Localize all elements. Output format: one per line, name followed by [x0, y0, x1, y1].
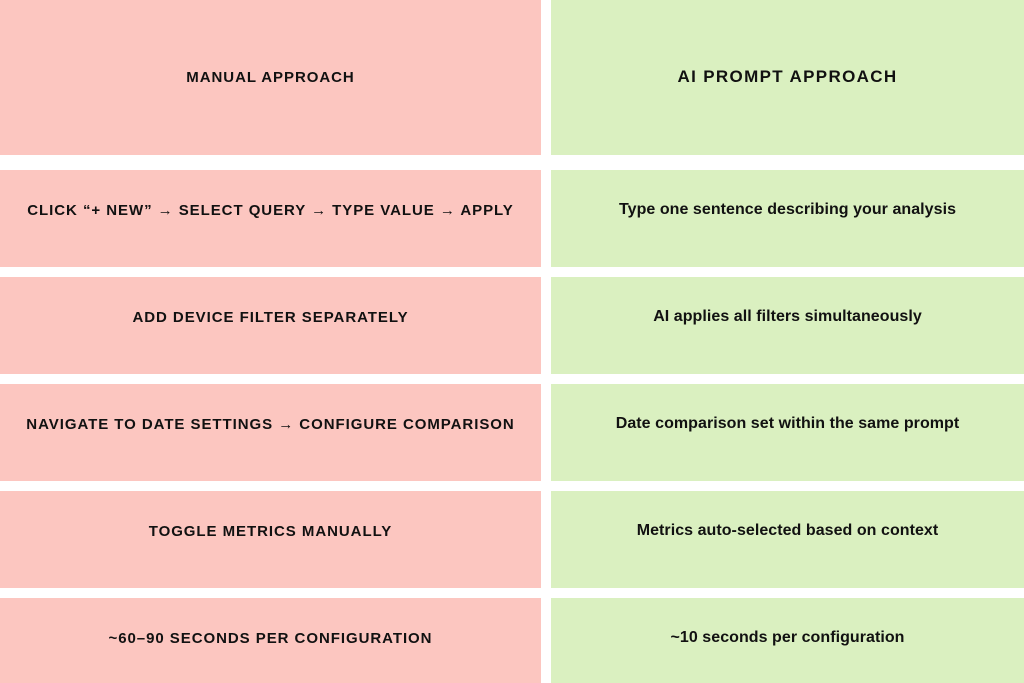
- table-row: TOGGLE METRICS MANUALLY Metrics auto-sel…: [0, 491, 1024, 588]
- cell-manual-step: ADD DEVICE FILTER SEPARATELY: [0, 277, 541, 374]
- cell-ai-step-label: Date comparison set within the same prom…: [604, 414, 972, 435]
- column-header-manual: MANUAL APPROACH: [0, 0, 541, 155]
- cell-ai-timing-label: ~10 seconds per configuration: [659, 628, 917, 649]
- cell-ai-step-label: Metrics auto-selected based on context: [625, 521, 951, 542]
- table-row: NAVIGATE TO DATE SETTINGS → CONFIGURE CO…: [0, 384, 1024, 481]
- cell-ai-step-label: Type one sentence describing your analys…: [607, 200, 968, 221]
- cell-manual-step-label: ADD DEVICE FILTER SEPARATELY: [120, 308, 420, 328]
- table-header-row: MANUAL APPROACH AI PROMPT APPROACH: [0, 0, 1024, 155]
- column-header-ai: AI PROMPT APPROACH: [551, 0, 1024, 155]
- cell-manual-step-label: TOGGLE METRICS MANUALLY: [137, 522, 405, 542]
- cell-ai-step-label: AI applies all filters simultaneously: [641, 307, 934, 328]
- cell-manual-step-label: CLICK “+ NEW” → SELECT QUERY → TYPE VALU…: [15, 201, 525, 221]
- cell-manual-step: NAVIGATE TO DATE SETTINGS → CONFIGURE CO…: [0, 384, 541, 481]
- cell-ai-step: Type one sentence describing your analys…: [551, 170, 1024, 267]
- comparison-table: MANUAL APPROACH AI PROMPT APPROACH CLICK…: [0, 0, 1024, 683]
- column-header-manual-label: MANUAL APPROACH: [174, 68, 366, 88]
- cell-manual-timing-label: ~60–90 SECONDS PER CONFIGURATION: [97, 629, 445, 649]
- cell-ai-step: AI applies all filters simultaneously: [551, 277, 1024, 374]
- cell-manual-step-label: NAVIGATE TO DATE SETTINGS → CONFIGURE CO…: [14, 415, 526, 435]
- table-row: ADD DEVICE FILTER SEPARATELY AI applies …: [0, 277, 1024, 374]
- table-row: ~60–90 SECONDS PER CONFIGURATION ~10 sec…: [0, 598, 1024, 683]
- column-header-ai-label: AI PROMPT APPROACH: [665, 66, 909, 88]
- cell-ai-step: Date comparison set within the same prom…: [551, 384, 1024, 481]
- cell-ai-step: Metrics auto-selected based on context: [551, 491, 1024, 588]
- cell-manual-step: TOGGLE METRICS MANUALLY: [0, 491, 541, 588]
- cell-ai-timing: ~10 seconds per configuration: [551, 598, 1024, 683]
- cell-manual-timing: ~60–90 SECONDS PER CONFIGURATION: [0, 598, 541, 683]
- cell-manual-step: CLICK “+ NEW” → SELECT QUERY → TYPE VALU…: [0, 170, 541, 267]
- table-row: CLICK “+ NEW” → SELECT QUERY → TYPE VALU…: [0, 170, 1024, 267]
